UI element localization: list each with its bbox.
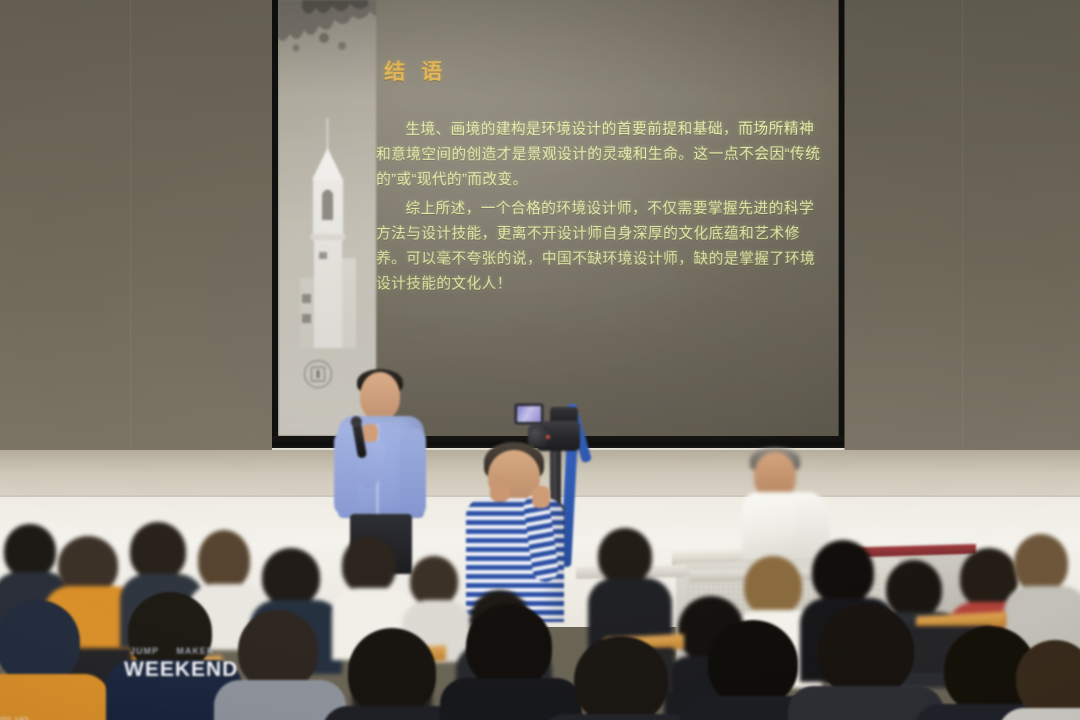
presenter-hand	[362, 424, 378, 442]
hoodie-text: dream yo	[0, 712, 28, 720]
operator-hand-on-camera	[490, 478, 510, 502]
tree-canopy-icon	[278, 0, 376, 110]
audience-person	[552, 636, 688, 720]
audience-person	[594, 528, 666, 624]
camera-lcd-screen	[514, 403, 544, 425]
university-seal-icon	[304, 360, 332, 388]
bell-tower-icon	[300, 118, 356, 348]
audience-person	[330, 628, 456, 720]
slide-title: 结 语	[384, 56, 447, 86]
audience-person	[798, 604, 930, 720]
lecture-hall-photo: 结 语 生境、画境的建构是环境设计的首要前提和基础，而场所精神和意境空间的创造才…	[0, 0, 1080, 720]
camera-record-light-icon	[546, 435, 550, 439]
slide-paragraph-2: 综上所述，一个合格的环境设计师，不仅需要掌握先进的科学方法与设计技能，更离不开设…	[376, 196, 828, 298]
audience-person	[338, 536, 408, 632]
presenter-left-arm	[334, 430, 358, 516]
slide-sidebar-photo	[278, 0, 376, 436]
wall-panel-right	[836, 0, 1080, 452]
slide-paragraph-1: 生境、画境的建构是环境设计的首要前提和基础，而场所精神和意境空间的创造才是景观设…	[376, 117, 828, 194]
operator-hand-on-grip	[532, 486, 550, 508]
slide-body: 生境、画境的建构是环境设计的首要前提和基础，而场所精神和意境空间的创造才是景观设…	[376, 117, 828, 301]
presenter-right-arm	[400, 428, 426, 518]
audience-person: dream yo	[0, 600, 102, 720]
wall-seam-right	[962, 0, 963, 452]
audience-person	[1008, 640, 1080, 720]
audience-person	[222, 610, 338, 720]
wall-panel-left	[0, 0, 278, 448]
wall-seam-left	[130, 0, 131, 452]
presenter-head	[360, 372, 400, 420]
